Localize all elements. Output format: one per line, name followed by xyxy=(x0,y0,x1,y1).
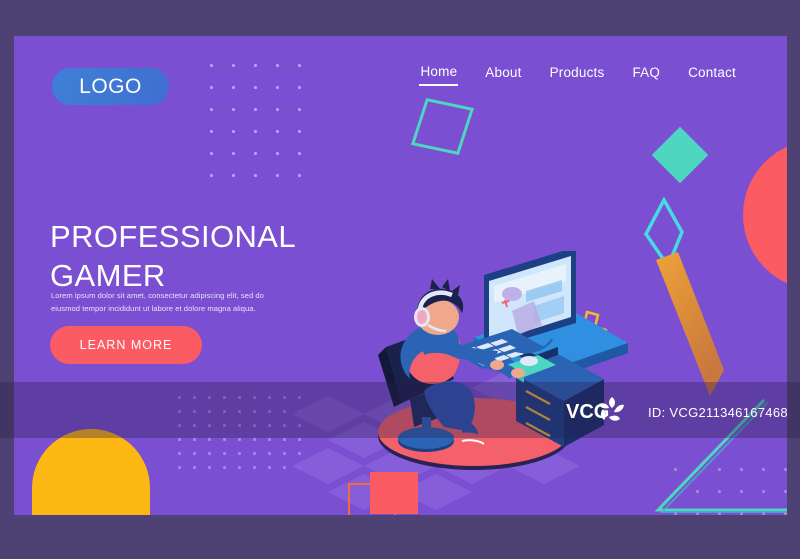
main-nav: Home About Products FAQ Contact xyxy=(419,56,737,90)
page-title: PROFESSIONAL GAMER xyxy=(50,217,410,296)
logo[interactable]: LOGO xyxy=(52,68,169,105)
nav-item-products[interactable]: Products xyxy=(549,62,606,85)
nav-item-home[interactable]: Home xyxy=(419,61,458,86)
watermark-id: ID: VCG211346167468 xyxy=(648,405,788,420)
coral-half-circle-shape xyxy=(743,140,787,290)
learn-more-button[interactable]: LEARN MORE xyxy=(50,326,202,364)
nav-item-contact[interactable]: Contact xyxy=(687,62,737,85)
nav-item-faq[interactable]: FAQ xyxy=(631,62,661,85)
hero-card: LOGO Home About Products FAQ Contact PRO… xyxy=(14,36,787,515)
coral-square-shape xyxy=(370,472,418,514)
teal-diamond-shape xyxy=(652,127,709,184)
teal-square-outline-shape xyxy=(411,98,474,155)
watermark: VCG ID: VCG211346167468 xyxy=(566,392,788,432)
screenshot-root: LOGO Home About Products FAQ Contact PRO… xyxy=(0,0,800,559)
headline-line-1: PROFESSIONAL xyxy=(50,217,410,257)
hero-paragraph: Lorem ipsum dolor sit amet, consectetur … xyxy=(51,289,281,315)
yellow-dome-shape xyxy=(32,429,150,515)
vcg-logo-icon: VCG xyxy=(566,392,640,432)
nav-item-about[interactable]: About xyxy=(484,62,522,85)
